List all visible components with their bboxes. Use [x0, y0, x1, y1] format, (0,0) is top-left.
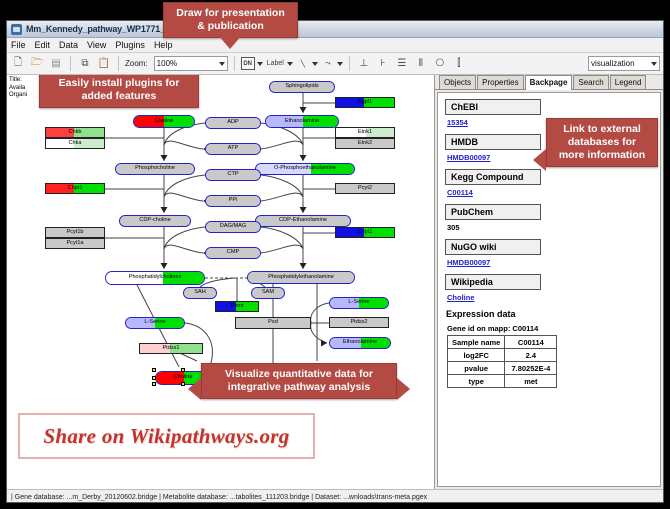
callout-visualize: Visualize quantitative data forintegrati…: [201, 363, 397, 399]
callout-links-text: Link to externaldatabases formore inform…: [559, 123, 645, 161]
gene-node-chpt1[interactable]: Chpt1: [45, 183, 105, 194]
toolbar-separator-1: [70, 56, 71, 71]
gene-node-pcyt2[interactable]: Pcyt2: [335, 183, 395, 194]
metabolite-node-sam[interactable]: SAM: [251, 287, 285, 299]
node-label: PPi: [229, 198, 238, 204]
database-name: HMDB: [445, 134, 541, 150]
node-label: ADP: [227, 120, 239, 126]
node-label: Pcyt1b: [66, 230, 83, 236]
node-label: Pcyt1a: [66, 241, 83, 247]
gene-node-ptdss1[interactable]: Ptdss1: [139, 343, 203, 354]
node-label: CDP-Ethanolamine: [279, 218, 327, 224]
chevron-down-icon: [287, 62, 293, 66]
node-label: Psd: [268, 320, 278, 326]
gene-node-etnk2[interactable]: Etnk2: [335, 138, 395, 149]
node-label: Etnk2: [358, 141, 372, 147]
status-text: | Gene database: ...m_Derby_20120602.bri…: [11, 494, 427, 501]
node-label: Chpt1: [68, 186, 83, 192]
zoom-value: 100%: [157, 59, 177, 68]
metabolite-node-phosphatidylethanolamine[interactable]: Phosphatidylethanolamine: [247, 271, 355, 284]
chevron-down-icon: [257, 62, 263, 66]
metabolite-node-ethanolamine-right[interactable]: Ethanolamine: [329, 337, 391, 349]
metabolite-node-dagmag[interactable]: DAG/MAG: [205, 221, 261, 233]
align-left-icon[interactable]: ⊦: [375, 56, 391, 72]
callout-links: Link to externaldatabases formore inform…: [546, 118, 658, 167]
title-bar: Mm_Kennedy_pathway_WP1771_45176.gpml: [7, 21, 663, 38]
order-icon[interactable]: ⫿: [451, 56, 467, 72]
tab-search[interactable]: Search: [573, 75, 608, 89]
node-label: Ptdss1: [162, 346, 179, 352]
node-label: SAH: [194, 290, 206, 296]
database-group-pubchem: PubChem305: [445, 204, 653, 232]
metabolite-node-adp[interactable]: ADP: [205, 117, 261, 129]
datanode-icon: DN: [241, 57, 255, 70]
menu-item-data[interactable]: Data: [59, 40, 78, 50]
save-icon[interactable]: ▤: [48, 56, 64, 72]
datanode-tool[interactable]: DN: [241, 57, 263, 70]
selection-handle[interactable]: [152, 376, 156, 380]
gene-node-ptdss2[interactable]: Ptdss2: [329, 317, 389, 328]
node-label: CMP: [227, 250, 239, 256]
expression-key: log2FC: [448, 349, 505, 362]
gene-node-sgpl1[interactable]: Sgpl1: [335, 97, 395, 108]
chevron-down-icon: [219, 62, 225, 66]
metabolite-node-l-serine-left[interactable]: L-Serine: [125, 317, 185, 329]
menu-item-edit[interactable]: Edit: [35, 40, 51, 50]
expression-value: C00114: [505, 336, 557, 349]
database-name: NuGO wiki: [445, 239, 541, 255]
metabolite-node-sphingolipids[interactable]: Sphingolipids: [269, 81, 335, 93]
menu-bar: File Edit Data View Plugins Help: [7, 38, 663, 53]
visualization-value: visualization: [591, 59, 635, 68]
gene-id-line: Gene id on mapp: C00114: [447, 324, 653, 333]
expression-table: Sample nameC00114log2FC2.4pvalue7.80252E…: [447, 335, 557, 388]
selection-handle[interactable]: [152, 382, 156, 386]
line-tool[interactable]: ╲: [296, 57, 318, 70]
chevron-down-icon: [651, 62, 657, 66]
selection-handle[interactable]: [181, 382, 185, 386]
node-label: Sphingolipids: [285, 84, 318, 90]
expression-key: type: [448, 375, 505, 388]
interaction-icon: ⤳: [321, 57, 335, 70]
group-icon[interactable]: ⎔: [432, 56, 448, 72]
node-label: Phosphatidylethanolamine: [268, 275, 334, 281]
toolbar-separator-3: [234, 56, 235, 71]
chevron-down-icon: [337, 62, 343, 66]
node-label: CTP: [227, 172, 238, 178]
status-bar: | Gene database: ...m_Derby_20120602.bri…: [7, 489, 663, 503]
metabolite-node-choline-top[interactable]: Choline: [133, 115, 195, 128]
metabolite-node-cdp-choline[interactable]: CDP-choline: [119, 215, 191, 227]
callout-draw: Draw for presentation& publication: [163, 2, 298, 38]
node-label: Ethanolamine: [343, 340, 377, 346]
open-folder-icon[interactable]: 🗁: [29, 56, 45, 72]
gene-node-cept1[interactable]: Cept1: [335, 227, 395, 238]
database-group-wikipedia: WikipediaCholine: [445, 274, 653, 302]
copy-icon[interactable]: ⧉: [77, 56, 93, 72]
label-tool[interactable]: Label: [266, 57, 293, 70]
gene-node-chka[interactable]: Chka: [45, 138, 105, 149]
pathway-availability-label: Availa: [9, 85, 27, 93]
chevron-down-icon: [312, 62, 318, 66]
metabolite-node-cmp[interactable]: CMP: [205, 247, 261, 259]
database-name: PubChem: [445, 204, 541, 220]
node-label: Pemt: [230, 304, 243, 310]
tab-backpage[interactable]: Backpage: [525, 75, 573, 90]
stack-icon[interactable]: ⦀: [413, 56, 429, 72]
menu-item-plugins[interactable]: Plugins: [115, 40, 145, 50]
database-group-kegg-compound: Kegg CompoundC00114: [445, 169, 653, 197]
callout-visualize-arrow-right-icon: [397, 378, 410, 400]
node-label: Sgpl1: [358, 100, 372, 106]
expression-row: Sample nameC00114: [448, 336, 557, 349]
zoom-label: Zoom:: [125, 59, 148, 68]
callout-links-arrow-icon: [533, 149, 546, 171]
callout-visualize-text: Visualize quantitative data forintegrati…: [225, 368, 373, 393]
expression-key: Sample name: [448, 336, 505, 349]
line-icon: ╲: [296, 57, 310, 70]
pathway-metadata: Title: Availa Organi: [9, 77, 27, 100]
selection-handle[interactable]: [152, 368, 156, 372]
visualization-select[interactable]: visualization: [588, 56, 660, 71]
database-name: ChEBI: [445, 99, 541, 115]
metabolite-node-atp[interactable]: ATP: [205, 143, 261, 155]
metabolite-node-o-phosphoethanolamine[interactable]: O-Phosphoethanolamine: [255, 163, 355, 175]
node-label: O-Phosphoethanolamine: [274, 166, 336, 172]
node-label: CDP-choline: [139, 218, 170, 224]
gene-node-etnk1[interactable]: Etnk1: [335, 127, 395, 138]
zoom-select[interactable]: 100%: [154, 56, 228, 71]
expression-key: pvalue: [448, 362, 505, 375]
paste-icon[interactable]: 📋: [96, 56, 112, 72]
node-label: Chkb: [68, 130, 81, 136]
expression-value: 7.80252E-4: [505, 362, 557, 375]
align-bottom-icon[interactable]: ⊥: [356, 56, 372, 72]
database-link[interactable]: HMDB00097: [447, 258, 653, 267]
node-label: DAG/MAG: [220, 224, 246, 230]
expression-value: met: [505, 375, 557, 388]
side-panel-tabs: Objects Properties Backpage Search Legen…: [435, 75, 663, 90]
callout-share: Share on Wikipathways.org: [18, 413, 315, 459]
gene-node-chkb[interactable]: Chkb: [45, 127, 105, 138]
callout-draw-text: Draw for presentation& publication: [176, 7, 285, 32]
node-label: L-Serine: [348, 300, 369, 306]
expression-data-heading: Expression data: [446, 309, 653, 319]
node-label: Phosphatidylcholines: [129, 275, 182, 281]
metabolite-node-sah[interactable]: SAH: [183, 287, 217, 299]
label-icon: Label: [266, 57, 285, 70]
node-label: Chka: [68, 141, 81, 147]
tab-objects[interactable]: Objects: [439, 75, 476, 89]
tab-legend[interactable]: Legend: [610, 75, 647, 89]
toolbar-separator-4: [349, 56, 350, 71]
node-label: L-Serine: [144, 320, 165, 326]
pathvisio-icon: [11, 24, 22, 35]
node-label: Cept1: [358, 230, 373, 236]
distribute-icon[interactable]: ☰: [394, 56, 410, 72]
callout-plugins-text: Easily install plugins foradded features: [59, 77, 180, 102]
node-label: Ptdss2: [350, 320, 367, 326]
pathway-organism-label: Organi: [9, 92, 27, 100]
callout-draw-arrow-icon: [218, 35, 242, 49]
database-group-nugo-wiki: NuGO wikiHMDB00097: [445, 239, 653, 267]
metabolite-node-phosphocholine[interactable]: Phosphocholine: [115, 163, 195, 175]
database-name: Kegg Compound: [445, 169, 541, 185]
node-label: Phosphocholine: [135, 166, 175, 172]
gene-node-pcyt1b[interactable]: Pcyt1b: [45, 227, 105, 238]
node-label: Ethanolamine: [285, 119, 319, 125]
callout-visualize-arrow-icon: [188, 378, 201, 400]
node-label: ATP: [228, 146, 238, 152]
gene-node-pcyt1a[interactable]: Pcyt1a: [45, 238, 105, 249]
database-name: Wikipedia: [445, 274, 541, 290]
pathway-title-label: Title:: [9, 77, 27, 85]
menu-item-view[interactable]: View: [87, 40, 106, 50]
metabolite-node-ppi[interactable]: PPi: [205, 195, 261, 207]
expression-row: log2FC2.4: [448, 349, 557, 362]
database-link[interactable]: Choline: [447, 293, 653, 302]
node-label: Etnk1: [358, 130, 372, 136]
metabolite-node-phosphatidylcholines[interactable]: Phosphatidylcholines: [105, 271, 205, 285]
tab-properties[interactable]: Properties: [477, 75, 523, 89]
new-file-icon[interactable]: 🗋: [10, 56, 26, 72]
metabolite-node-cdp-ethanolamine[interactable]: CDP-Ethanolamine: [255, 215, 351, 227]
database-link[interactable]: C00114: [447, 188, 653, 197]
metabolite-node-l-serine-right[interactable]: L-Serine: [329, 297, 389, 309]
metabolite-node-ethanolamine-top[interactable]: Ethanolamine: [265, 115, 339, 128]
expression-row: pvalue7.80252E-4: [448, 362, 557, 375]
expression-row: typemet: [448, 375, 557, 388]
toolbar: 🗋 🗁 ▤ ⧉ 📋 Zoom: 100% DN Label ╲ ⤳ ⊥: [7, 53, 663, 75]
gene-node-psd[interactable]: Psd: [235, 317, 311, 329]
node-label: SAM: [262, 290, 274, 296]
database-value: 305: [447, 223, 653, 232]
metabolite-node-ctp[interactable]: CTP: [205, 169, 261, 181]
menu-item-file[interactable]: File: [11, 40, 26, 50]
node-label: Pcyt2: [358, 186, 372, 192]
node-label: Choline: [155, 119, 174, 125]
toolbar-separator-2: [118, 56, 119, 71]
interaction-tool[interactable]: ⤳: [321, 57, 343, 70]
gene-node-pemt[interactable]: Pemt: [215, 301, 259, 312]
selection-handle[interactable]: [181, 368, 185, 372]
callout-share-text: Share on Wikipathways.org: [43, 424, 289, 449]
menu-item-help[interactable]: Help: [154, 40, 173, 50]
expression-value: 2.4: [505, 349, 557, 362]
callout-plugins: Easily install plugins foradded features: [39, 75, 199, 108]
